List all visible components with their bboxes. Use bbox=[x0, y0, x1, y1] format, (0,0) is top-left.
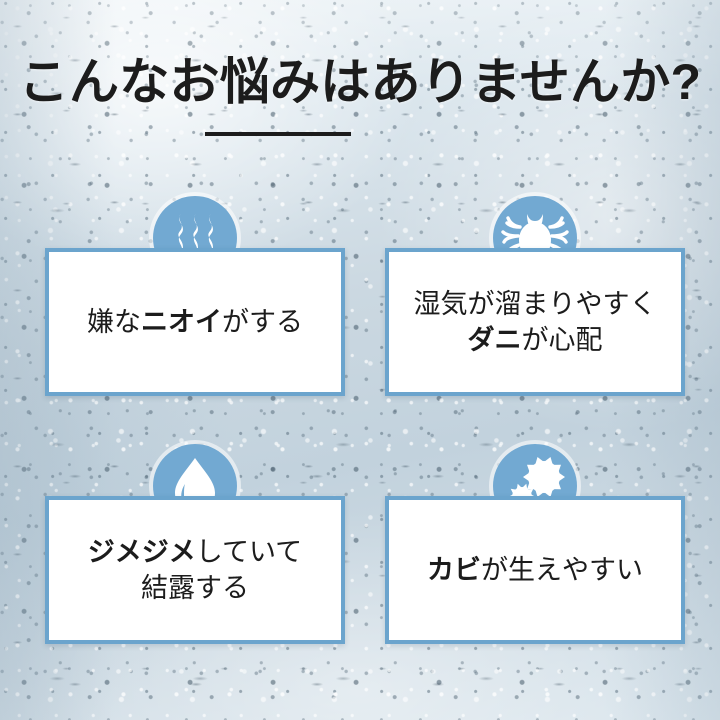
problem-card[interactable]: 嫌なニオイがする bbox=[45, 248, 345, 396]
plain-text: が生えやすい bbox=[481, 555, 643, 585]
problem-card-text: ジメジメしていて結露する bbox=[78, 534, 312, 606]
emphasis-text: ダニ bbox=[468, 325, 522, 355]
problem-card-line: 結露する bbox=[88, 570, 302, 606]
problem-card-grid: 嫌なニオイがする湿気が溜まりやすくダニが心配ジメジメしていて結露するカビが生えや… bbox=[0, 0, 720, 720]
plain-text: していて bbox=[196, 537, 302, 567]
problem-card-line: カビが生えやすい bbox=[427, 552, 643, 588]
plain-text: がする bbox=[222, 307, 303, 337]
plain-text: が心配 bbox=[522, 325, 603, 355]
plain-text: 結露する bbox=[141, 573, 249, 603]
problem-card-line: 嫌なニオイがする bbox=[87, 304, 303, 340]
problem-card[interactable]: 湿気が溜まりやすくダニが心配 bbox=[385, 248, 685, 396]
poster-canvas: こんなお悩みはありませんか? 嫌なニオイがする湿気が溜まりやすくダニが心配ジメジ… bbox=[0, 0, 720, 720]
plain-text: 湿気が溜まりやすく bbox=[414, 289, 657, 319]
problem-card-text: カビが生えやすい bbox=[417, 552, 653, 588]
problem-card-line: ジメジメしていて bbox=[88, 534, 302, 570]
problem-card[interactable]: ジメジメしていて結露する bbox=[45, 496, 345, 644]
emphasis-text: カビ bbox=[427, 555, 481, 585]
problem-card-line: ダニが心配 bbox=[414, 322, 657, 358]
problem-card-text: 嫌なニオイがする bbox=[77, 304, 313, 340]
plain-text: 嫌な bbox=[87, 307, 141, 337]
problem-card-line: 湿気が溜まりやすく bbox=[414, 286, 657, 322]
emphasis-text: ニオイ bbox=[141, 307, 222, 337]
emphasis-text: ジメジメ bbox=[88, 537, 196, 567]
problem-card-text: 湿気が溜まりやすくダニが心配 bbox=[404, 286, 667, 358]
problem-card[interactable]: カビが生えやすい bbox=[385, 496, 685, 644]
